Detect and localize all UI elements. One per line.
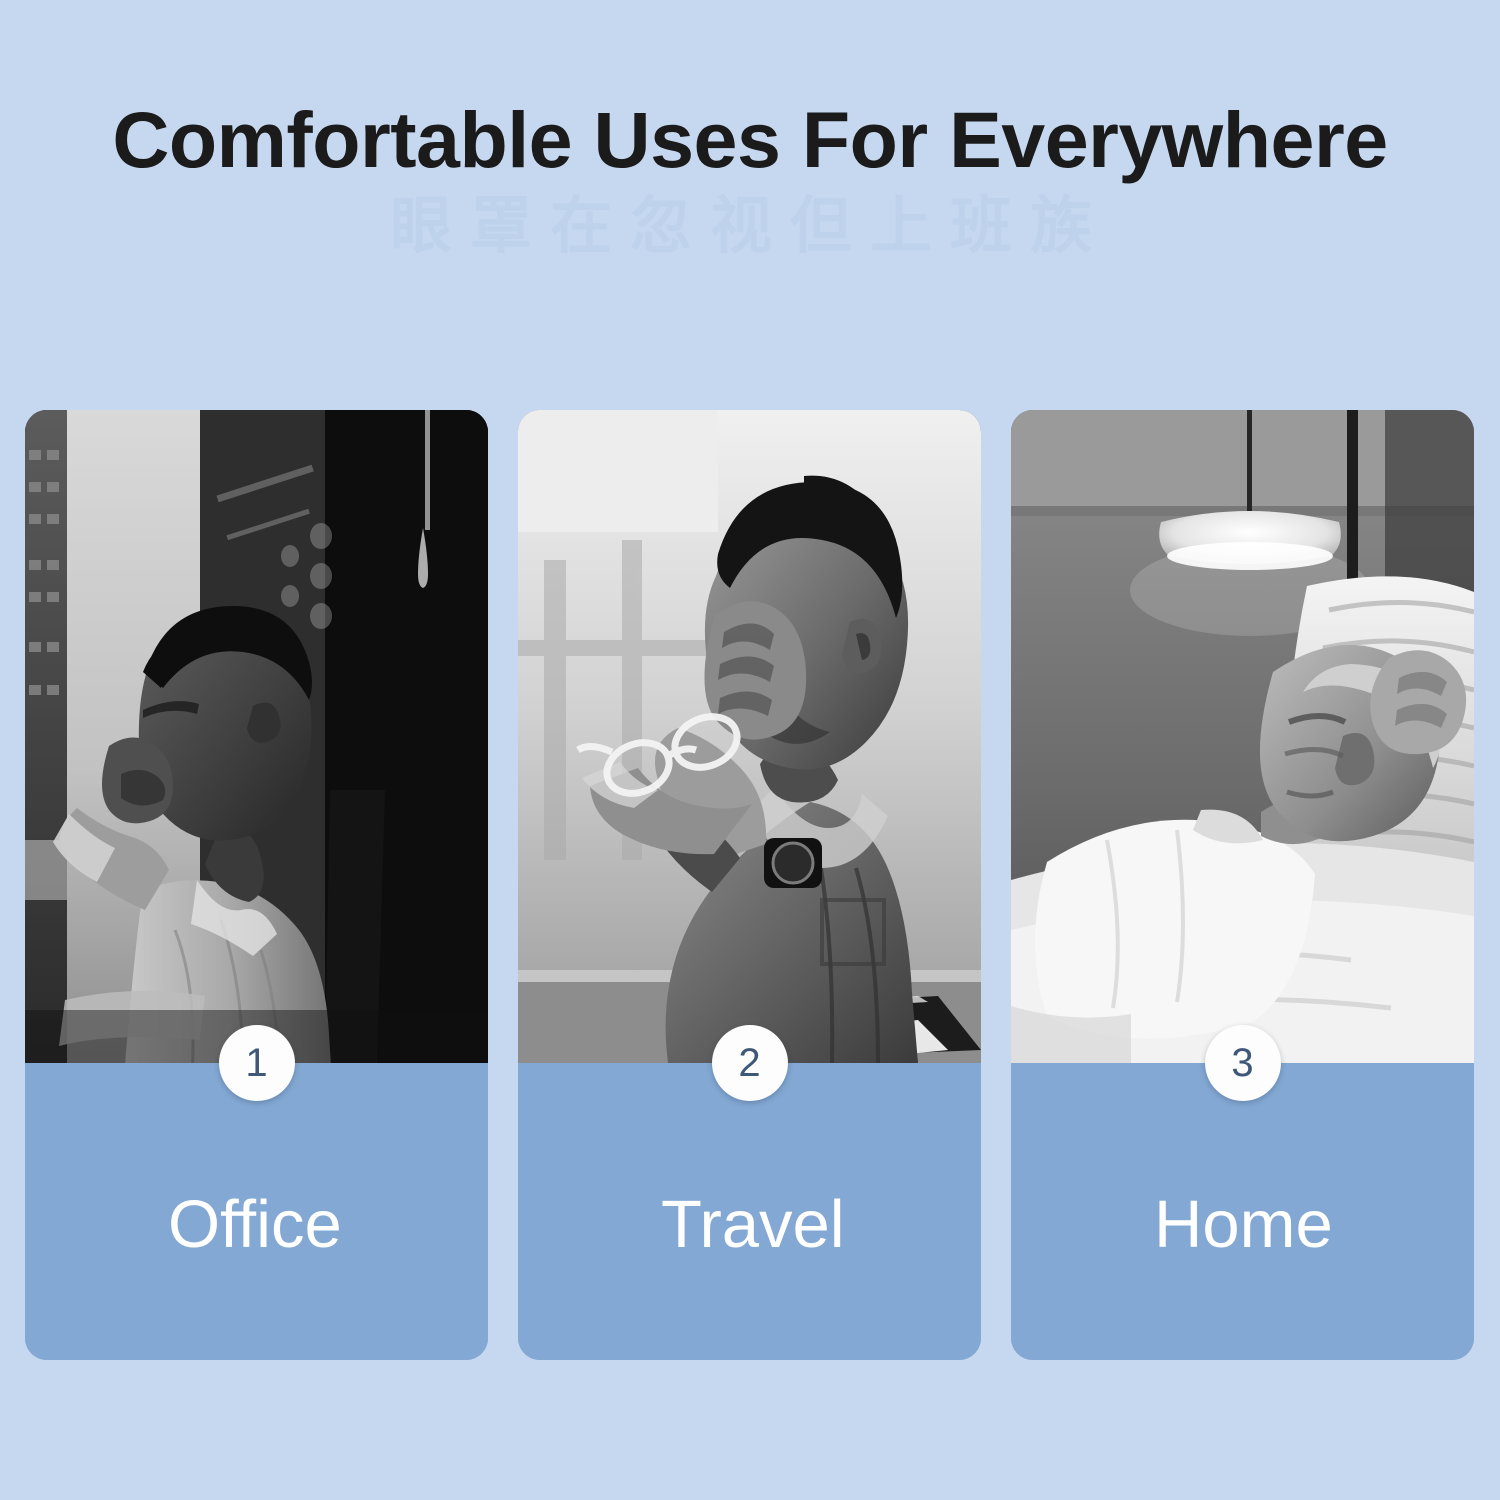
- card-label-home: Home: [1154, 1191, 1333, 1258]
- photo-travel: [518, 410, 981, 1063]
- step-badge-number-2: 2: [738, 1043, 760, 1083]
- background-watermark-text: 眼罩在忽视但上班族: [0, 196, 1500, 258]
- photo-home: [1011, 410, 1474, 1063]
- card-clip-home: Home: [1011, 410, 1474, 1360]
- step-badge-2: 2: [712, 1025, 788, 1101]
- page-header: Comfortable Uses For Everywhere 眼罩在忽视但上班…: [0, 0, 1500, 300]
- use-case-card-travel[interactable]: Travel 2: [518, 410, 981, 1360]
- step-badge-number-3: 3: [1231, 1043, 1253, 1083]
- card-footer-office: Office: [25, 1063, 488, 1360]
- step-badge-1: 1: [219, 1025, 295, 1101]
- card-footer-home: Home: [1011, 1063, 1474, 1360]
- use-case-card-home[interactable]: Home 3: [1011, 410, 1474, 1360]
- photo-office: [25, 410, 488, 1063]
- card-clip-travel: Travel: [518, 410, 981, 1360]
- use-case-cards-row: Office 1: [25, 410, 1475, 1360]
- step-badge-number-1: 1: [245, 1043, 267, 1083]
- step-badge-3: 3: [1205, 1025, 1281, 1101]
- card-footer-travel: Travel: [518, 1063, 981, 1360]
- card-label-travel: Travel: [661, 1191, 845, 1258]
- card-clip-office: Office: [25, 410, 488, 1360]
- page-title: Comfortable Uses For Everywhere: [0, 100, 1500, 179]
- use-case-card-office[interactable]: Office 1: [25, 410, 488, 1360]
- card-label-office: Office: [168, 1191, 342, 1258]
